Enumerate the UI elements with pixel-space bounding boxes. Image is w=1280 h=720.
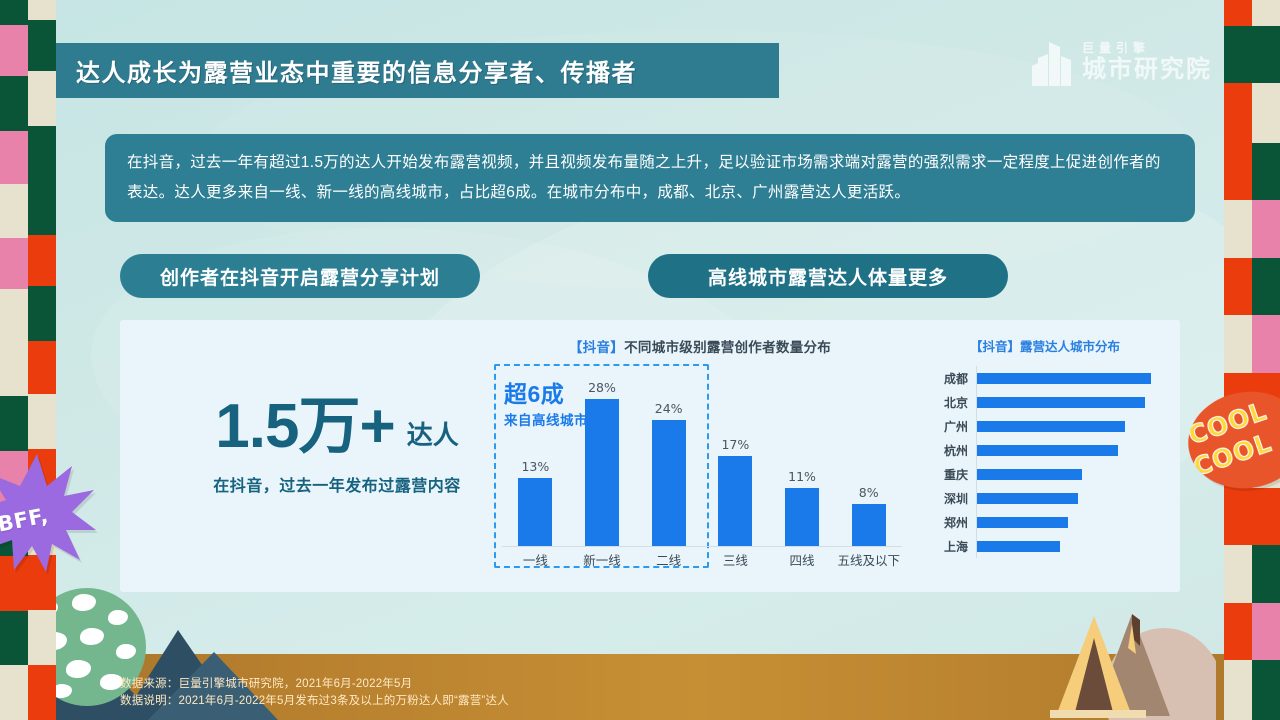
city-bar — [977, 469, 1082, 480]
city-bar — [977, 541, 1060, 552]
footer-source: 数据来源：巨量引擎城市研究院，2021年6月-2022年5月 — [120, 676, 740, 693]
column-bar-item: 13% — [502, 368, 569, 546]
logo-title: 城市研究院 — [1082, 56, 1212, 85]
column-category-label: 四线 — [769, 550, 836, 569]
column-category-label: 一线 — [502, 550, 569, 569]
column-bar-item: 24% — [635, 368, 702, 546]
city-name-label: 杭州 — [932, 442, 976, 459]
city-bar-row: 广州 — [932, 414, 1158, 438]
column-category-label: 三线 — [702, 550, 769, 569]
city-chart-title-brand: 【抖音】 — [970, 340, 1020, 354]
column-bar-item: 17% — [702, 368, 769, 546]
brand-logo: 巨量引擎 城市研究院 — [1032, 36, 1212, 90]
city-bar — [977, 493, 1078, 504]
city-name-label: 重庆 — [932, 466, 976, 483]
city-bar — [977, 373, 1151, 384]
city-bar-track — [976, 390, 1158, 414]
decorative-border-right — [1224, 0, 1280, 720]
city-bar — [977, 421, 1125, 432]
stat-block: 1.5万+ 达人 在抖音，过去一年发布过露营内容 — [152, 396, 522, 496]
city-bar — [977, 517, 1068, 528]
section-chip-cities: 高线城市露营达人体量更多 — [648, 254, 1008, 298]
column-category-label: 五线及以下 — [835, 550, 902, 569]
city-bar-track — [976, 534, 1158, 558]
city-name-label: 北京 — [932, 394, 976, 411]
cool-sticker: COOL COOL — [1181, 383, 1280, 496]
column-category-label: 二线 — [635, 550, 702, 569]
column-chart-axis — [502, 546, 902, 547]
column-chart-title-brand: 【抖音】 — [569, 340, 624, 355]
city-bar-chart: 【抖音】露营达人城市分布 成都北京广州杭州重庆深圳郑州上海 — [930, 336, 1160, 586]
column-chart-title: 【抖音】不同城市级别露营创作者数量分布 — [490, 336, 910, 356]
city-bar-row: 深圳 — [932, 486, 1158, 510]
city-bar-row: 北京 — [932, 390, 1158, 414]
column-bar — [785, 488, 819, 546]
column-bar-value: 8% — [859, 485, 879, 500]
stat-plus: + — [359, 392, 394, 461]
tent-illustration — [1036, 598, 1216, 720]
column-chart-plot: 13%28%24%17%11%8% — [502, 368, 902, 546]
city-name-label: 上海 — [932, 538, 976, 555]
column-bars: 13%28%24%17%11%8% — [502, 368, 902, 546]
column-bar-value: 11% — [788, 469, 816, 484]
column-category-label: 新一线 — [569, 550, 636, 569]
city-bar-track — [976, 366, 1158, 390]
column-chart-category-labels: 一线新一线二线三线四线五线及以下 — [502, 550, 902, 569]
column-bar — [518, 478, 552, 546]
city-bar-row: 杭州 — [932, 438, 1158, 462]
city-bar-track — [976, 486, 1158, 510]
footer-notes: 数据来源：巨量引擎城市研究院，2021年6月-2022年5月 数据说明：2021… — [120, 676, 740, 710]
city-bar-row: 重庆 — [932, 462, 1158, 486]
slide-root: BFF, COOL COOL 达人成长为露营业态中重要的信息分享者、传播者 巨量… — [0, 0, 1280, 720]
column-bar-item: 28% — [569, 368, 636, 546]
city-bar-track — [976, 462, 1158, 486]
intro-paragraph: 在抖音，过去一年有超过1.5万的达人开始发布露营视频，并且视频发布量随之上升，足… — [105, 134, 1195, 222]
city-bar-track — [976, 414, 1158, 438]
column-bar-value: 28% — [588, 380, 616, 395]
page-title: 达人成长为露营业态中重要的信息分享者、传播者 — [56, 53, 637, 88]
logo-subtitle: 巨量引擎 — [1082, 41, 1212, 55]
stat-number: 1.5万+ — [215, 396, 394, 458]
column-bar-value: 13% — [521, 459, 549, 474]
city-bar — [977, 445, 1118, 456]
column-bar — [585, 399, 619, 546]
city-bar-rows: 成都北京广州杭州重庆深圳郑州上海 — [932, 366, 1158, 558]
column-bar-value: 17% — [721, 437, 749, 452]
city-bar-row: 郑州 — [932, 510, 1158, 534]
building-icon — [1032, 40, 1072, 86]
column-bar-item: 8% — [835, 368, 902, 546]
column-bar-value: 24% — [655, 401, 683, 416]
page-title-bar: 达人成长为露营业态中重要的信息分享者、传播者 — [56, 43, 779, 98]
stat-number-value: 1.5万 — [215, 392, 359, 461]
column-bar — [852, 504, 886, 546]
stat-caption: 在抖音，过去一年发布过露营内容 — [152, 472, 522, 496]
column-chart-title-rest: 不同城市级别露营创作者数量分布 — [624, 340, 831, 355]
city-bar-row: 上海 — [932, 534, 1158, 558]
decorative-border-left — [0, 0, 56, 720]
content-card: 1.5万+ 达人 在抖音，过去一年发布过露营内容 【抖音】不同城市级别露营创作者… — [120, 320, 1180, 592]
city-name-label: 广州 — [932, 418, 976, 435]
footer-note: 数据说明：2021年6月-2022年5月发布过3条及以上的万粉达人即“露营”达人 — [120, 693, 740, 710]
city-bar — [977, 397, 1145, 408]
city-bar-track — [976, 438, 1158, 462]
column-bar — [718, 456, 752, 546]
city-bar-track — [976, 510, 1158, 534]
section-chip-creators: 创作者在抖音开启露营分享计划 — [120, 254, 480, 298]
stat-unit: 达人 — [407, 415, 459, 458]
column-chart: 【抖音】不同城市级别露营创作者数量分布 超6成 来自高线城市 13%28%24%… — [490, 336, 910, 586]
city-chart-title-rest: 露营达人城市分布 — [1020, 340, 1120, 354]
city-name-label: 深圳 — [932, 490, 976, 507]
city-name-label: 成都 — [932, 370, 976, 387]
city-bar-row: 成都 — [932, 366, 1158, 390]
bff-sticker: BFF, — [0, 452, 98, 574]
column-bar — [652, 420, 686, 546]
city-chart-title: 【抖音】露营达人城市分布 — [930, 336, 1160, 355]
city-name-label: 郑州 — [932, 514, 976, 531]
column-bar-item: 11% — [769, 368, 836, 546]
